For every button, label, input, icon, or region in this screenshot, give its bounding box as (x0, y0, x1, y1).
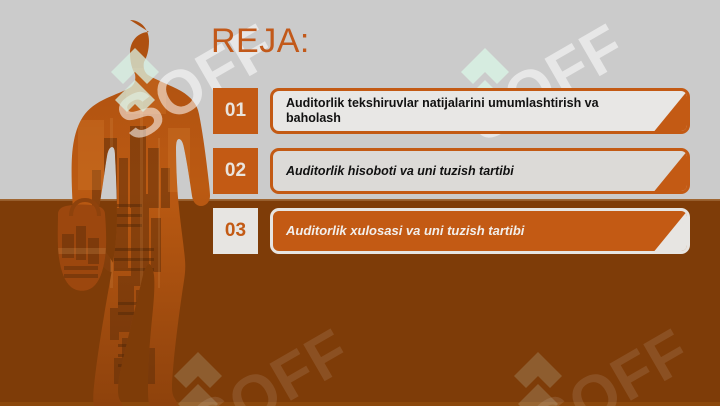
agenda-item-03[interactable]: 03 Auditorlik xulosasi va uni tuzish tar… (213, 208, 690, 254)
presentation-slide: SOFF SOFF SOFF SOFF (0, 0, 720, 406)
agenda-number-badge: 02 (213, 148, 258, 194)
agenda-number-badge: 01 (213, 88, 258, 134)
silhouette-figure-image (18, 8, 238, 406)
agenda-item-01[interactable]: 01 Auditorlik tekshiruvlar natijalarini … (213, 88, 690, 134)
agenda-item-bar[interactable]: Auditorlik xulosasi va uni tuzish tartib… (270, 208, 690, 254)
agenda-item-label: Auditorlik hisoboti va uni tuzish tartib… (273, 164, 687, 179)
agenda-item-label: Auditorlik tekshiruvlar natijalarini umu… (273, 96, 687, 126)
agenda-item-bar[interactable]: Auditorlik tekshiruvlar natijalarini umu… (270, 88, 690, 134)
agenda-item-bar[interactable]: Auditorlik hisoboti va uni tuzish tartib… (270, 148, 690, 194)
agenda-number-badge: 03 (213, 208, 258, 254)
page-title: REJA: (211, 22, 310, 61)
agenda-item-label: Auditorlik xulosasi va uni tuzish tartib… (273, 223, 687, 238)
agenda-item-02[interactable]: 02 Auditorlik hisoboti va uni tuzish tar… (213, 148, 690, 194)
